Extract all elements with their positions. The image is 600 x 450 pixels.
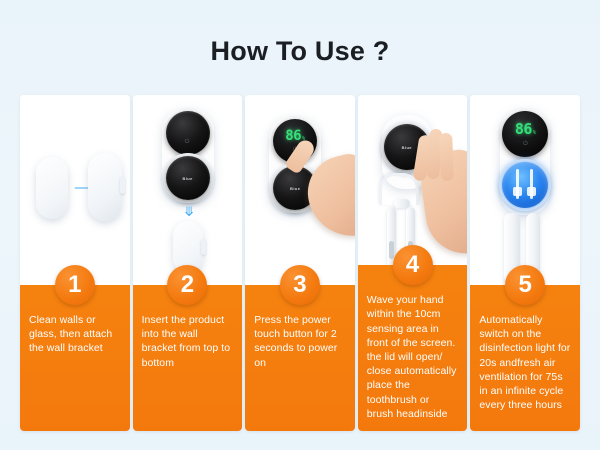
step-3-visual: 86 % ⏻ Blue (245, 95, 355, 285)
display-unit: % (533, 130, 536, 136)
power-icon: ⏻ (185, 139, 190, 146)
page-title: How To Use ? (0, 36, 600, 67)
steps-card-list: ⟶ 1 Clean walls or glass, then attach th… (20, 95, 580, 431)
step-1-text: Clean walls or glass, then attach the wa… (29, 313, 121, 356)
brand-disc-icon: Blue (166, 156, 210, 200)
step-5-body: 5 Automatically switch on the disinfecti… (470, 285, 580, 431)
step-card-3[interactable]: 86 % ⏻ Blue 3 Press the power touch butt… (245, 95, 355, 431)
step-badge-2: 2 (167, 265, 207, 305)
arrow-down-icon: ⤋ (184, 205, 195, 218)
step-card-2[interactable]: ⏻ Blue ⤋ 2 Insert the product into the w… (133, 95, 243, 431)
step-1-visual: ⟶ (20, 95, 130, 285)
power-disc-icon (166, 111, 210, 155)
step-5-text: Automatically switch on the disinfection… (479, 313, 571, 412)
brand-logo: Blue (402, 145, 412, 150)
step-4-visual: Blue (358, 95, 468, 265)
step-card-5[interactable]: 86 % ⏻ 5 Automatically switch on the dis… (470, 95, 580, 431)
step-badge-3: 3 (280, 265, 320, 305)
step-2-text: Insert the product into the wall bracket… (142, 313, 234, 370)
how-to-use-page: How To Use ? ⟶ 1 Clean walls or glass, t… (0, 0, 600, 450)
brush-head-icon (513, 187, 522, 196)
bracket-pad-icon (36, 157, 68, 219)
bracket-tab-icon (120, 177, 125, 194)
brand-logo: Blue (182, 176, 192, 181)
step-4-text: Wave your hand within the 10cm sensing a… (367, 293, 459, 421)
step-5-visual: 86 % ⏻ (470, 95, 580, 285)
brush-head-icon (527, 187, 536, 196)
brand-logo: Blue (290, 186, 300, 191)
step-badge-1: 1 (55, 265, 95, 305)
power-icon: ⏻ (523, 141, 528, 148)
toothbrush-grip-icon (389, 241, 394, 259)
step-2-visual: ⏻ Blue ⤋ (133, 95, 243, 285)
wall-bracket-icon (88, 153, 122, 221)
finger-icon (439, 133, 454, 181)
bracket-tab-icon (201, 239, 206, 255)
display-value: 86 (515, 120, 532, 138)
step-4-body: 4 Wave your hand within the 10cm sensing… (358, 265, 468, 431)
step-card-4[interactable]: Blue 4 Wave your hand within the 10cm se… (358, 95, 468, 431)
step-3-text: Press the power touch button for 2 secon… (254, 313, 346, 370)
step-1-body: 1 Clean walls or glass, then attach the … (20, 285, 130, 431)
step-card-1[interactable]: ⟶ 1 Clean walls or glass, then attach th… (20, 95, 130, 431)
step-3-body: 3 Press the power touch button for 2 sec… (245, 285, 355, 431)
step-2-body: 2 Insert the product into the wall brack… (133, 285, 243, 431)
step-badge-5: 5 (505, 265, 545, 305)
step-badge-4: 4 (393, 245, 433, 285)
